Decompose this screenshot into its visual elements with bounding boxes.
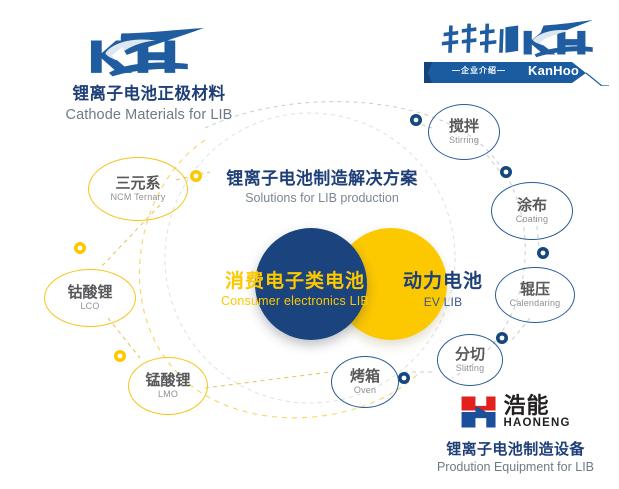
node-label-en: LCO bbox=[80, 301, 99, 311]
node-coating[interactable]: 涂布 Coating bbox=[491, 182, 573, 240]
kh-logo bbox=[82, 28, 216, 80]
node-oven[interactable]: 烤箱 Oven bbox=[331, 356, 399, 408]
slide-canvas: 锂离子电池正极材料 Cathode Materials for LIB bbox=[0, 0, 619, 489]
brand-left: 锂离子电池正极材料 Cathode Materials for LIB bbox=[24, 28, 274, 124]
venn-label-ev-en: EV LIB bbox=[359, 295, 527, 309]
brand-bottom-cn: 锂离子电池制造设备 bbox=[418, 438, 613, 459]
centre-title: 锂离子电池制造解决方案 Solutions for LIB production bbox=[192, 164, 452, 205]
node-label-cn: 搅拌 bbox=[449, 119, 479, 135]
node-lco[interactable]: 钴酸锂 LCO bbox=[44, 269, 136, 327]
centre-title-en: Solutions for LIB production bbox=[192, 191, 452, 205]
node-slitting[interactable]: 分切 Slitting bbox=[437, 334, 503, 386]
node-ncm-ternary[interactable]: 三元系 NCM Ternary bbox=[88, 157, 188, 221]
venn-label-ev: 动力电池 EV LIB bbox=[359, 266, 527, 309]
node-label-cn: 钴酸锂 bbox=[67, 285, 112, 301]
node-label-cn: 烤箱 bbox=[350, 369, 380, 385]
centre-title-cn: 锂离子电池制造解决方案 bbox=[192, 164, 452, 189]
brand-left-cn: 锂离子电池正极材料 bbox=[24, 84, 274, 105]
kanhoo-kh-logo bbox=[440, 20, 595, 60]
haoneng-logo-row: 浩能 HAONENG bbox=[418, 392, 613, 432]
node-label-en: Stirring bbox=[449, 135, 479, 145]
brand-bottom-en: Prodution Equipment for LIB bbox=[418, 460, 613, 474]
node-stirring[interactable]: 搅拌 Stirring bbox=[428, 104, 500, 160]
haoneng-logo bbox=[460, 395, 497, 429]
banner-subtitle: —企业介绍— bbox=[452, 60, 506, 82]
haoneng-cn: 浩能 bbox=[503, 395, 549, 417]
node-label-en: LMO bbox=[158, 389, 178, 399]
node-label-en: Oven bbox=[354, 385, 376, 395]
haoneng-en: HAONENG bbox=[503, 418, 570, 430]
brand-bottom: 浩能 HAONENG 锂离子电池制造设备 Prodution Equipment… bbox=[418, 392, 613, 474]
node-label-cn: 锰酸锂 bbox=[145, 373, 190, 389]
venn-label-ev-cn: 动力电池 bbox=[359, 266, 527, 293]
banner-name: KanHoo bbox=[528, 60, 579, 82]
haoneng-wordmark: 浩能 HAONENG bbox=[503, 395, 570, 430]
node-label-en: Slitting bbox=[456, 363, 485, 373]
venn-diagram: 消费电子类电池 Consumer electronics LIB 动力电池 EV… bbox=[255, 228, 455, 340]
node-label-en: Coating bbox=[516, 214, 548, 224]
node-label-cn: 三元系 bbox=[115, 176, 160, 192]
node-lmo[interactable]: 锰酸锂 LMO bbox=[128, 357, 208, 415]
node-label-cn: 分切 bbox=[455, 347, 485, 363]
node-label-cn: 涂布 bbox=[517, 198, 547, 214]
node-label-en: NCM Ternary bbox=[110, 192, 165, 202]
brand-left-en: Cathode Materials for LIB bbox=[24, 106, 274, 125]
banner: —企业介绍— KanHoo bbox=[424, 60, 609, 86]
brand-right: —企业介绍— KanHoo bbox=[424, 20, 609, 88]
